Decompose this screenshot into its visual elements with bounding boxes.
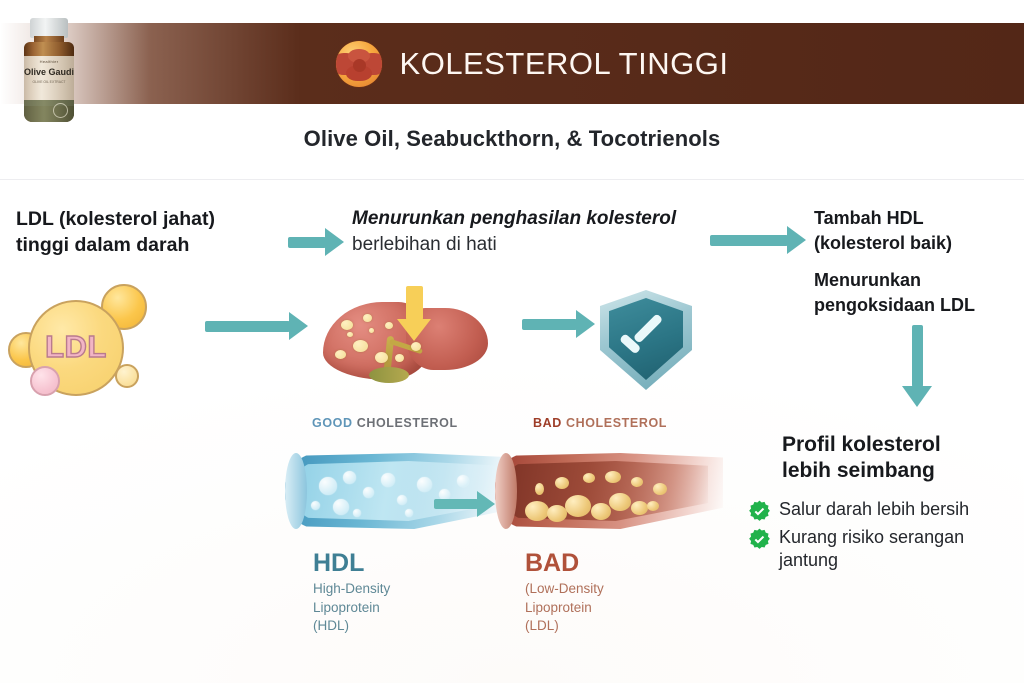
arrow-step1-to-step2 — [288, 228, 344, 256]
bad-cholesterol-key: BAD — [533, 416, 562, 430]
hdl-caption: HDL High-Density Lipoprotein (HDL) — [313, 549, 390, 636]
good-cholesterol-label: GOOD CHOLESTEROL — [312, 416, 458, 430]
artery-plaque-icon — [336, 41, 382, 87]
shield-check-icon — [600, 290, 692, 390]
check-badge-icon — [748, 528, 771, 551]
step-1-text: LDL (kolesterol jahat) tinggi dalam dara… — [16, 206, 291, 258]
check-badge-icon — [748, 500, 771, 523]
step-1-line-2: tinggi dalam darah — [16, 232, 291, 258]
list-item: Kurang risiko serangan jantung — [748, 526, 1024, 572]
arrow-ldl-to-liver — [205, 312, 308, 340]
blocked-vessel-illustration — [495, 443, 730, 535]
hdl-caption-title: HDL — [313, 549, 390, 577]
step-1-line-1: LDL (kolesterol jahat) — [16, 206, 291, 232]
bad-cholesterol-label: BAD CHOLESTEROL — [533, 416, 667, 430]
conclusion-title-line-1: Profil kolesterol — [782, 432, 1017, 458]
step-4-line-1: Menurunkan — [814, 268, 1024, 293]
bad-caption: BAD (Low-Density Lipoprotein (LDL) — [525, 549, 604, 636]
good-cholesterol-key: GOOD — [312, 416, 353, 430]
bad-caption-lines: (Low-Density Lipoprotein (LDL) — [525, 580, 604, 636]
step-3-line-2: (kolesterol baik) — [814, 231, 1024, 256]
infographic-page: KOLESTEROL TINGGI Healthier Olive Gaudi … — [0, 0, 1024, 683]
bottle-product-name: Olive Gaudi — [24, 67, 74, 77]
conclusion-bullets: Salur darah lebih bersih Kurang risiko s… — [748, 498, 1024, 575]
header-divider — [0, 179, 1024, 180]
conclusion-title-line-2: lebih seimbang — [782, 458, 1017, 484]
step-3-text: Tambah HDL (kolesterol baik) — [814, 206, 1024, 256]
bad-caption-title: BAD — [525, 549, 604, 577]
step-4-line-2: pengoksidaan LDL — [814, 293, 1024, 318]
bullet-text: Salur darah lebih bersih — [779, 498, 969, 521]
bottle-footer-band — [24, 100, 74, 122]
arrow-step2-to-step3 — [710, 226, 806, 254]
bullet-text: Kurang risiko serangan jantung — [779, 526, 1024, 572]
header-banner-content: KOLESTEROL TINGGI — [0, 23, 1024, 104]
arrow-liver-to-shield — [522, 310, 595, 338]
conclusion-title: Profil kolesterol lebih seimbang — [782, 432, 1017, 484]
ldl-bubble-3 — [30, 366, 60, 396]
list-item: Salur darah lebih bersih — [748, 498, 1024, 523]
arrow-good-to-bad-vessel — [434, 491, 495, 517]
product-bottle-image: Healthier Olive Gaudi OLIVE OIL EXTRACT — [18, 18, 80, 122]
ldl-particle-label: LDL — [30, 329, 122, 365]
gallbladder — [369, 367, 409, 383]
page-title: KOLESTEROL TINGGI — [400, 46, 729, 82]
good-cholesterol-value: CHOLESTEROL — [357, 416, 458, 430]
step-2-rest: berlebihan di hati — [352, 234, 497, 255]
header-banner: KOLESTEROL TINGGI — [0, 23, 1024, 104]
step-3-line-1: Tambah HDL — [814, 206, 1024, 231]
arrow-down-to-conclusion — [902, 325, 932, 407]
step-4-text: Menurunkan pengoksidaan LDL — [814, 268, 1024, 318]
hdl-caption-lines: High-Density Lipoprotein (HDL) — [313, 580, 390, 636]
ldl-bubble-4 — [115, 364, 139, 388]
bottle-brand: Healthier — [24, 59, 74, 64]
step-2-text: Menurunkan penghasilan kolesterol berleb… — [352, 206, 682, 258]
bottle-label: Healthier Olive Gaudi OLIVE OIL EXTRACT — [24, 56, 74, 106]
ldl-particle-illustration: LDL — [8, 282, 153, 394]
bottle-body: Healthier Olive Gaudi OLIVE OIL EXTRACT — [24, 42, 74, 122]
liver-illustration — [323, 292, 488, 387]
subtitle: Olive Oil, Seabuckthorn, & Tocotrienols — [0, 126, 1024, 152]
bottle-cap — [30, 18, 68, 38]
bad-cholesterol-value: CHOLESTEROL — [566, 416, 667, 430]
liver-down-arrow-icon — [397, 286, 431, 341]
bottle-seal-icon — [53, 103, 68, 118]
bottle-sub-line-1: OLIVE OIL EXTRACT — [24, 80, 74, 85]
step-2-bold: Menurunkan penghasilan kolesterol — [352, 208, 676, 229]
